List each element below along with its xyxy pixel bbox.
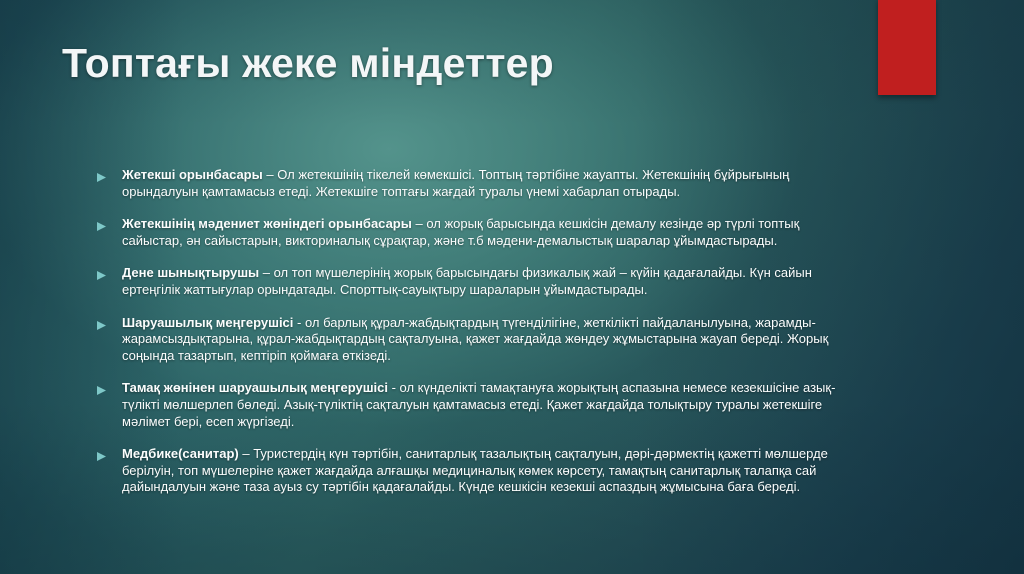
bullet-text: Дене шынықтырушы – ол топ мүшелерінің жо… <box>122 265 844 298</box>
bullet-item: Шаруашылық меңгерушісі - ол барлық құрал… <box>96 315 844 365</box>
bullet-lead: Жетекші орынбасары <box>122 167 263 182</box>
bullet-lead: Дене шынықтырушы <box>122 265 259 280</box>
bullet-item: Дене шынықтырушы – ол топ мүшелерінің жо… <box>96 265 844 298</box>
presentation-slide: Топтағы жеке міндеттер Жетекші орынбасар… <box>0 0 1024 574</box>
triangle-right-icon <box>96 265 122 281</box>
triangle-right-icon <box>96 380 122 396</box>
bullet-item: Жетекшінің мәдениет жөніндегі орынбасары… <box>96 216 844 249</box>
bullet-item: Жетекші орынбасары – Ол жетекшінің тікел… <box>96 167 844 200</box>
triangle-right-icon <box>96 167 122 183</box>
accent-bar-decoration <box>878 0 936 95</box>
bullet-text: Медбике(санитар) – Туристердің күн тәрті… <box>122 446 844 496</box>
bullet-list: Жетекші орынбасары – Ол жетекшінің тікел… <box>96 167 844 496</box>
bullet-lead: Жетекшінің мәдениет жөніндегі орынбасары <box>122 216 412 231</box>
bullet-lead: Шаруашылық меңгерушісі <box>122 315 293 330</box>
bullet-text: Тамақ жөнінен шаруашылық меңгерушісі - о… <box>122 380 844 430</box>
triangle-right-icon <box>96 446 122 462</box>
bullet-text: Шаруашылық меңгерушісі - ол барлық құрал… <box>122 315 844 365</box>
bullet-lead: Медбике(санитар) <box>122 446 239 461</box>
triangle-right-icon <box>96 315 122 331</box>
bullet-item: Тамақ жөнінен шаруашылық меңгерушісі - о… <box>96 380 844 430</box>
bullet-text: Жетекші орынбасары – Ол жетекшінің тікел… <box>122 167 844 200</box>
slide-title: Топтағы жеке міндеттер <box>62 42 862 85</box>
bullet-text: Жетекшінің мәдениет жөніндегі орынбасары… <box>122 216 844 249</box>
bullet-lead: Тамақ жөнінен шаруашылық меңгерушісі <box>122 380 388 395</box>
triangle-right-icon <box>96 216 122 232</box>
bullet-item: Медбике(санитар) – Туристердің күн тәрті… <box>96 446 844 496</box>
